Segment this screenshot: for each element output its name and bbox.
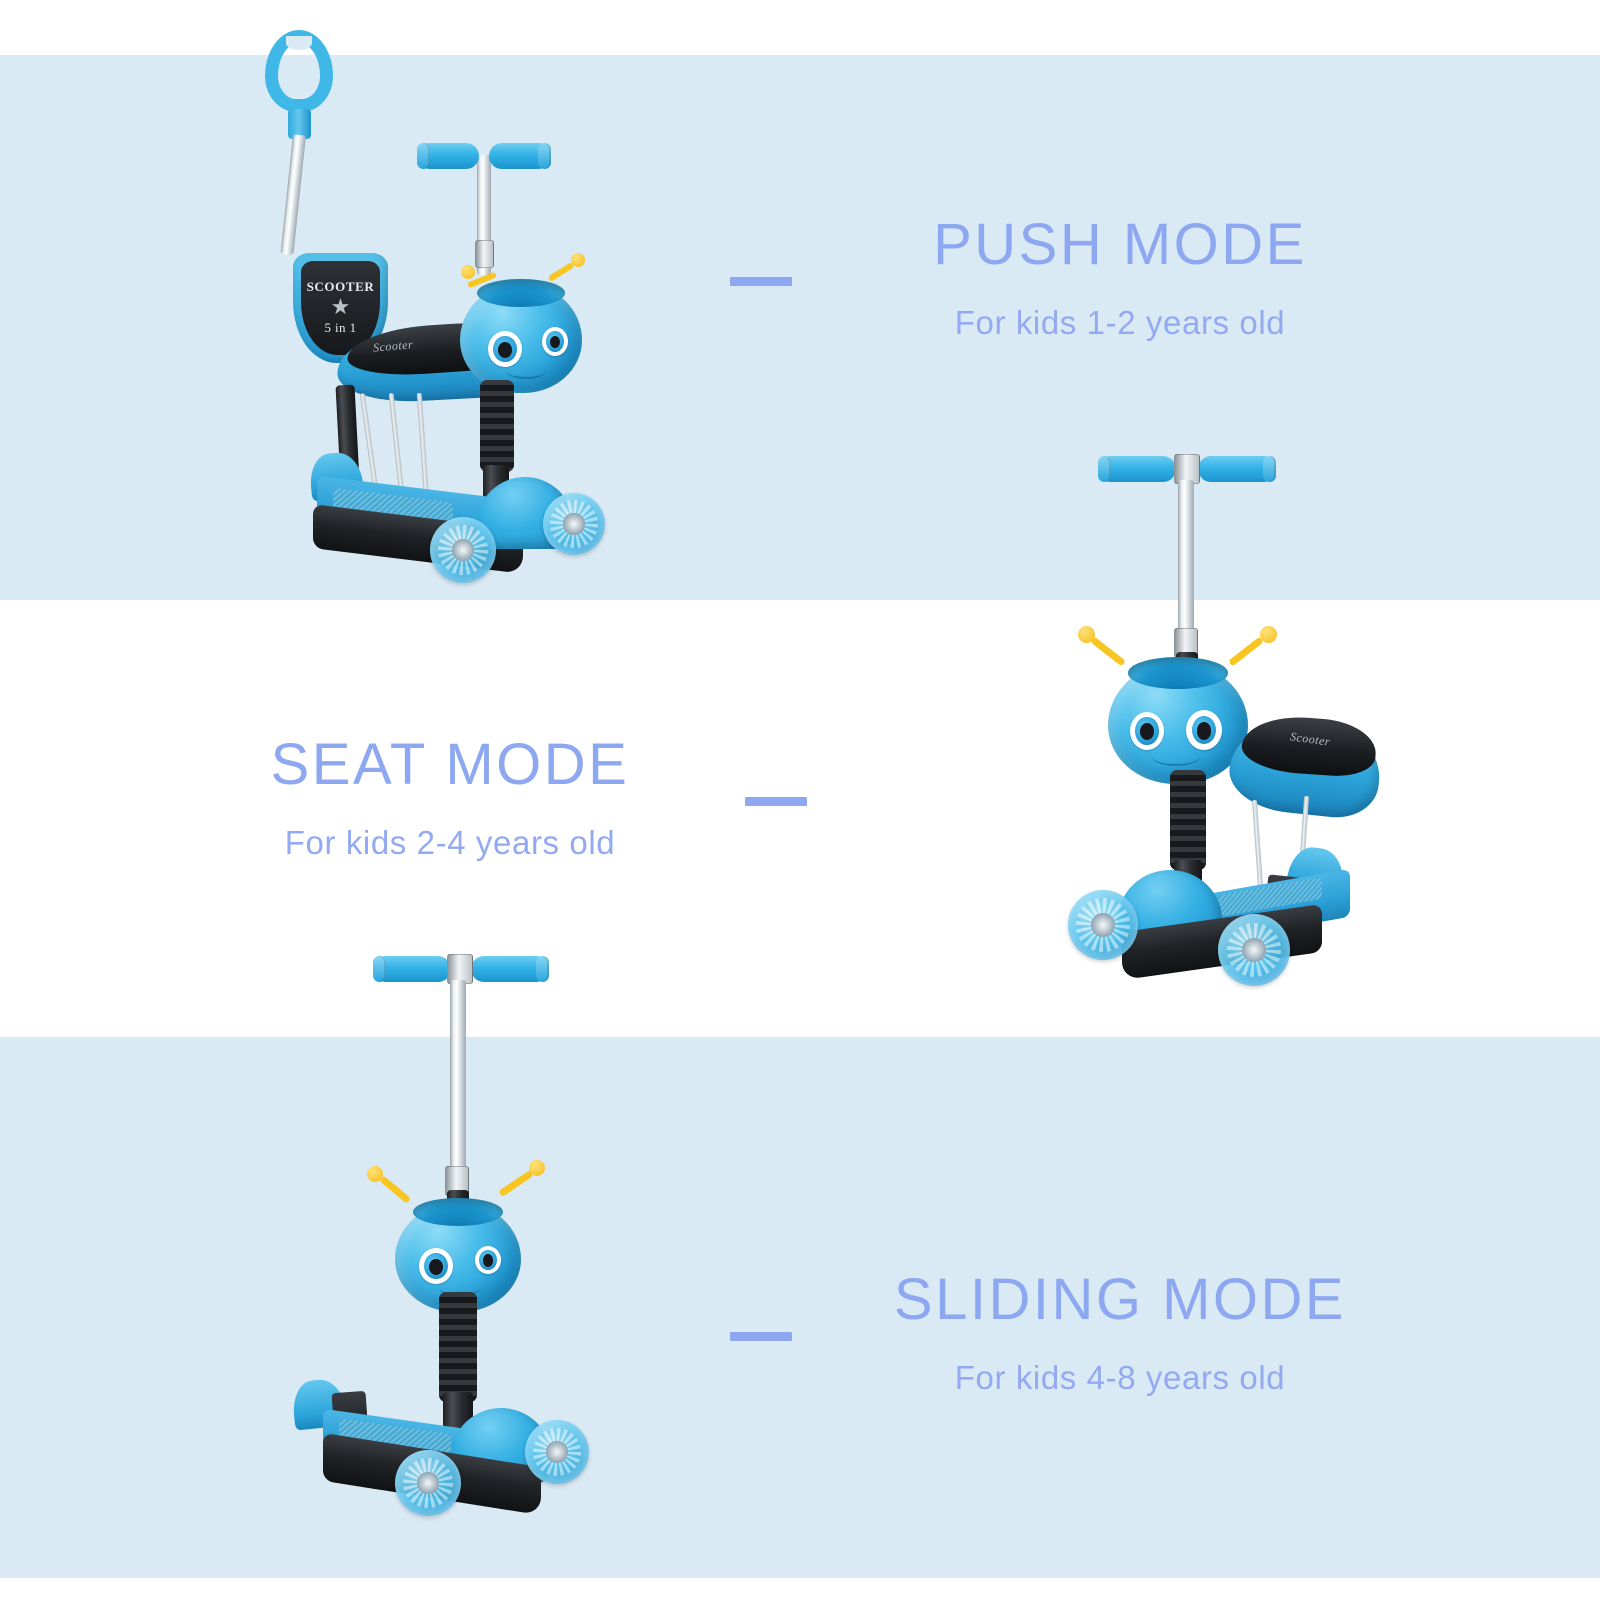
wheel-front-right-1: [543, 493, 605, 555]
bee-eye-left-1: [488, 331, 522, 367]
wheel-front-right-2: [1218, 914, 1290, 986]
handlebar-collar-1: [475, 240, 494, 268]
bee-eye-left-3: [419, 1248, 453, 1284]
scooter-push-mode: SCOOTER ★ 5 in 1 Scooter: [255, 25, 635, 595]
bee-head-rim-1: [477, 279, 565, 308]
subtitle-push-mode: For kids 1-2 years old: [840, 304, 1400, 342]
bee-antenna-left-3: [379, 1175, 411, 1204]
bee-pupil-right-2: [1197, 722, 1211, 740]
bee-pupil-left-1: [498, 342, 512, 358]
bee-pupil-right-3: [483, 1254, 493, 1266]
wheel-hub-fl-2: [1091, 913, 1115, 937]
infographic-page: SCOOTER ★ 5 in 1 Scooter: [0, 0, 1600, 1600]
wheel-front-left-2: [1068, 890, 1138, 960]
text-block-seat-mode: SEAT MODE For kids 2-4 years old: [170, 735, 730, 862]
title-seat-mode: SEAT MODE: [170, 735, 730, 796]
text-block-push-mode: PUSH MODE For kids 1-2 years old: [840, 215, 1400, 342]
scooter-seat-mode: Scooter: [1050, 440, 1390, 1010]
divider-dash-sliding-mode: [730, 1332, 792, 1341]
bee-eye-right-2: [1186, 710, 1222, 750]
handlebar-pole-3: [450, 980, 466, 1175]
badge-sub-text: 5 in 1: [324, 320, 356, 336]
bee-eye-right-1: [542, 327, 568, 356]
subtitle-sliding-mode: For kids 4-8 years old: [840, 1359, 1400, 1397]
bee-antenna-ball-left-2: [1078, 626, 1095, 643]
bee-eye-left-2: [1130, 712, 1164, 750]
badge-top-text: SCOOTER: [307, 279, 375, 295]
badge-star-icon: ★: [331, 296, 351, 318]
bee-antenna-right-3: [498, 1170, 533, 1197]
wheel-front-left-1: [430, 517, 496, 583]
handlebar-grip-right-3: [471, 956, 549, 982]
bee-head-2: [1108, 662, 1248, 784]
wheel-hub-fr-3: [546, 1441, 568, 1463]
bee-antenna-ball-right-3: [529, 1160, 545, 1176]
stem-bellow-3: [439, 1292, 477, 1402]
bee-antenna-left-2: [1090, 636, 1126, 666]
title-push-mode: PUSH MODE: [840, 215, 1400, 276]
bee-pupil-left-2: [1140, 723, 1154, 740]
wheel-hub-fr-1: [563, 513, 584, 534]
push-handle-pole: [280, 134, 305, 255]
bee-head-rim-3: [413, 1198, 504, 1227]
bee-eye-right-3: [475, 1246, 501, 1274]
handlebar-grip-right-2: [1198, 456, 1276, 482]
handlebar-grip-right-1: [489, 143, 551, 169]
bee-antenna-ball-right-1: [571, 253, 585, 267]
subtitle-seat-mode: For kids 2-4 years old: [170, 824, 730, 862]
bee-antenna-ball-right-2: [1260, 626, 1277, 643]
stem-bellow-1: [480, 380, 514, 472]
bee-antenna-right-1: [548, 262, 575, 282]
scooter-sliding-mode: [275, 930, 625, 1540]
title-sliding-mode: SLIDING MODE: [840, 1270, 1400, 1331]
bee-antenna-ball-left-1: [461, 265, 475, 279]
stem-bellow-2: [1170, 770, 1206, 870]
handlebar-grip-left-1: [417, 143, 479, 169]
wheel-front-right-3: [525, 1420, 589, 1484]
bee-antenna-ball-left-3: [367, 1166, 383, 1182]
bee-mouth-2: [1152, 748, 1200, 766]
divider-dash-push-mode: [730, 277, 792, 286]
bee-mouth-1: [506, 363, 546, 379]
bee-pupil-left-3: [429, 1259, 443, 1275]
text-block-sliding-mode: SLIDING MODE For kids 4-8 years old: [840, 1270, 1400, 1397]
handlebar-pole-2: [1178, 480, 1194, 635]
handlebar-grip-left-3: [373, 956, 451, 982]
bee-head-1: [460, 283, 582, 393]
wheel-front-left-3: [395, 1450, 461, 1516]
divider-dash-seat-mode: [745, 797, 807, 806]
bee-head-rim-2: [1128, 657, 1229, 689]
bee-antenna-right-2: [1228, 636, 1264, 666]
push-handle-notch: [286, 36, 312, 50]
handlebar-grip-left-2: [1098, 456, 1176, 482]
